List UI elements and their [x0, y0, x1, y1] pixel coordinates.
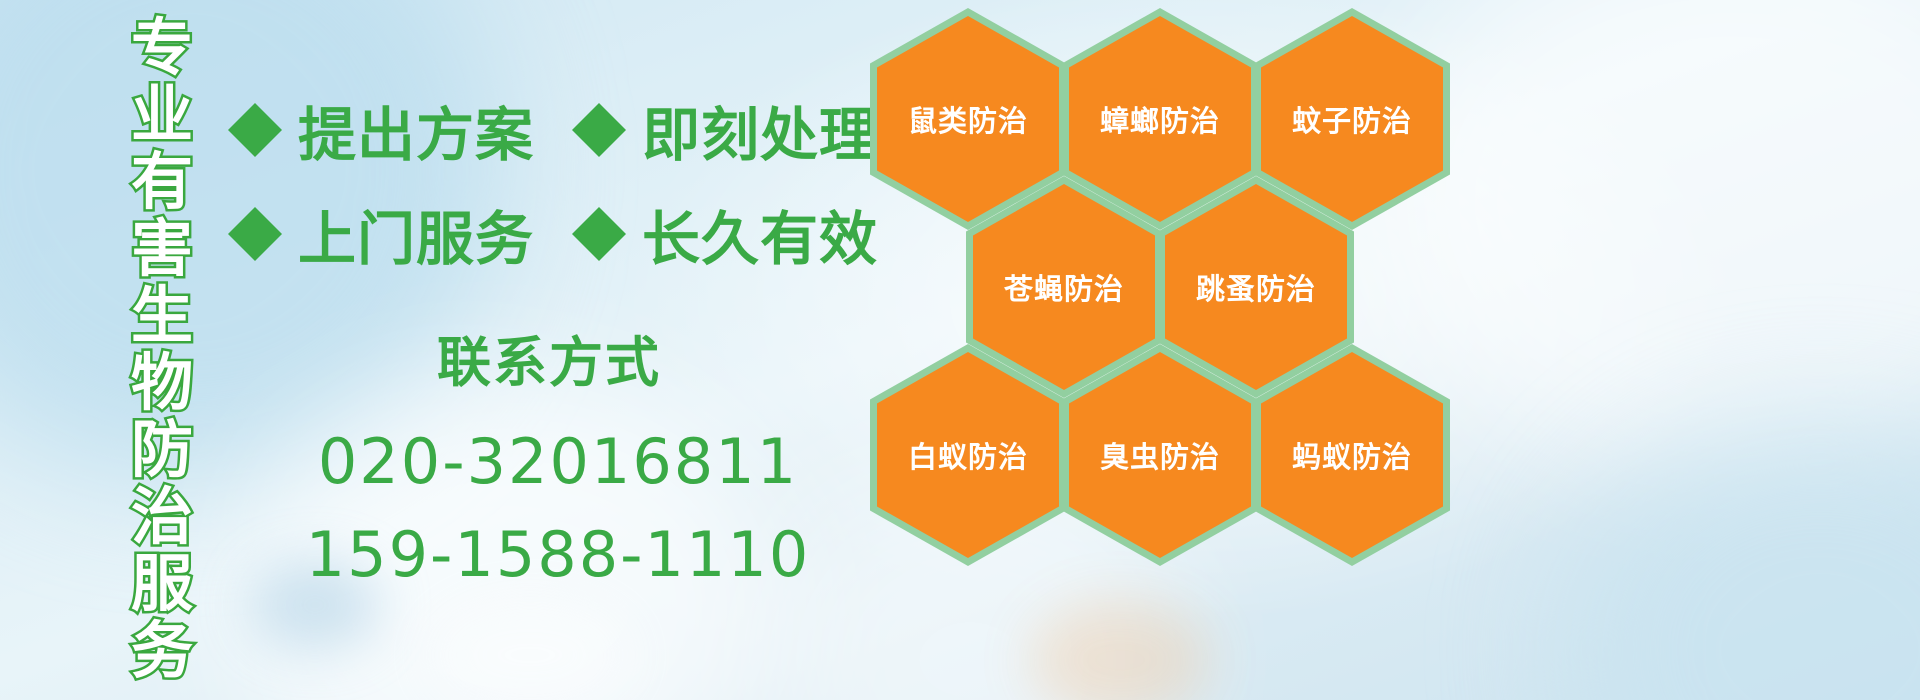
- service-label: 鼠类防治: [908, 98, 1028, 140]
- contact-title: 联系方式: [210, 318, 888, 397]
- background-glow: [1380, 0, 1920, 480]
- vertical-slogan-char: 专: [131, 14, 193, 81]
- diamond-bullet-icon: [228, 76, 282, 130]
- vertical-slogan-char: 业: [131, 81, 193, 148]
- vertical-slogan-char: 害: [131, 215, 193, 282]
- background-blob: [430, 600, 630, 700]
- feature-item-onsite-service: 上门服务: [228, 192, 534, 276]
- feature-label: 提出方案: [298, 88, 534, 172]
- feature-row: 上门服务 长久有效: [228, 182, 868, 286]
- feature-item-long-lasting: 长久有效: [572, 192, 878, 276]
- diamond-bullet-icon: [228, 180, 282, 234]
- feature-label: 上门服务: [298, 192, 534, 276]
- vertical-slogan-char: 生: [131, 282, 193, 349]
- vertical-slogan-char: 物: [131, 349, 193, 416]
- vertical-slogan-char: 务: [131, 617, 193, 684]
- service-label: 臭虫防治: [1100, 434, 1220, 476]
- service-label: 苍蝇防治: [1004, 266, 1124, 308]
- feature-item-immediate-handling: 即刻处理: [572, 88, 878, 172]
- vertical-slogan: 专 业 有 害 生 物 防 治 服 务: [104, 14, 220, 574]
- service-label: 蚊子防治: [1292, 98, 1412, 140]
- feature-item-propose-plan: 提出方案: [228, 88, 534, 172]
- feature-list: 提出方案 即刻处理 上门服务 长久有效: [228, 78, 868, 286]
- feature-label: 长久有效: [642, 192, 878, 276]
- feature-label: 即刻处理: [642, 88, 878, 172]
- service-label: 蟑螂防治: [1100, 98, 1220, 140]
- contact-block: 联系方式 020-32016811 159-1588-1110: [228, 318, 888, 591]
- diamond-bullet-icon: [572, 76, 626, 130]
- service-label: 跳蚤防治: [1196, 266, 1316, 308]
- vertical-slogan-char: 服: [131, 550, 193, 617]
- phone-landline[interactable]: 020-32016811: [228, 425, 888, 498]
- feature-row: 提出方案 即刻处理: [228, 78, 868, 182]
- pest-control-banner: 专 业 有 害 生 物 防 治 服 务 提出方案 即刻处理 上门服务: [0, 0, 1920, 700]
- phone-mobile[interactable]: 159-1588-1110: [228, 518, 888, 591]
- diamond-bullet-icon: [572, 180, 626, 234]
- vertical-slogan-char: 治: [131, 483, 193, 550]
- vertical-slogan-char: 有: [131, 148, 193, 215]
- service-label: 白蚁防治: [908, 434, 1028, 476]
- service-label: 蚂蚁防治: [1292, 434, 1412, 476]
- background-glow: [1560, 420, 1920, 700]
- vertical-slogan-char: 防: [131, 416, 193, 483]
- service-honeycomb: 鼠类防治 蟑螂防治 蚊子防治 苍蝇防治 跳蚤防治 白蚁防治 臭虫防治 蚂蚁: [860, 0, 1460, 700]
